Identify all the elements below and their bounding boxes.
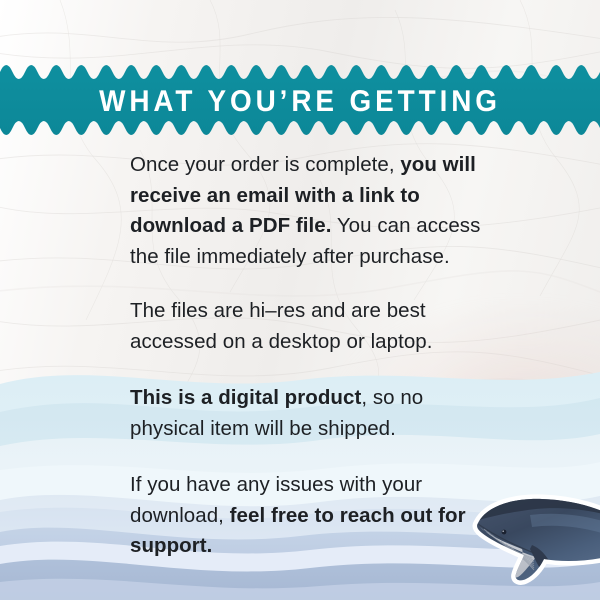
page-title: WHAT YOU’RE GETTING [21,58,579,144]
text-run: The files are hi–res and are best access… [130,299,432,353]
text-run-bold: This is a digital product [130,386,361,409]
paragraph-2: The files are hi–res and are best access… [130,296,500,357]
paragraph-3: This is a digital product, so no physica… [130,383,500,444]
paragraph-1: Once your order is complete, you will re… [130,150,500,272]
paragraph-4: If you have any issues with your downloa… [130,470,500,562]
blue-whale-icon [470,487,600,592]
text-run: Once your order is complete, [130,153,400,176]
body-copy: Once your order is complete, you will re… [130,150,500,562]
info-card: WHAT YOU’RE GETTING [0,0,600,600]
